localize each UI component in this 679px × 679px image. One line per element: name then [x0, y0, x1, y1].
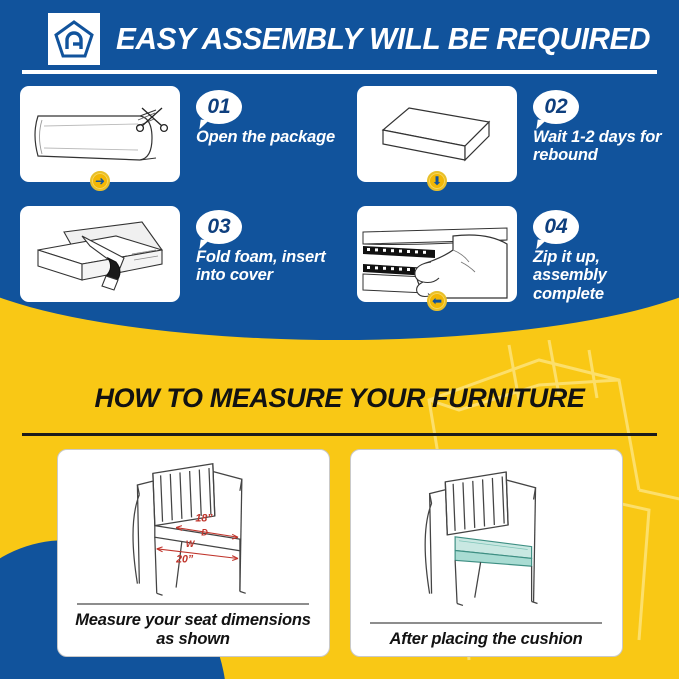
house-pentagon-icon: [48, 13, 100, 65]
assembly-steps-grid: ➜ 01 Open the package ⬇ 02 Wait 1-2 days…: [0, 86, 679, 312]
assembly-step-02: ⬇ 02 Wait 1-2 days for rebound: [343, 86, 674, 192]
step-number-badge: 01: [196, 90, 242, 124]
foam-slab-icon: ⬇: [357, 86, 517, 182]
step-number-badge: 02: [533, 90, 579, 124]
chair-with-cushion-icon: [359, 456, 614, 620]
card-caption: Measure your seat dimensions as shown: [66, 611, 321, 648]
width-value-label: 20”: [175, 553, 194, 565]
arrow-right-icon: ➜: [90, 171, 110, 191]
width-letter-label: W: [185, 539, 195, 549]
arrow-left-icon: ⬅: [427, 291, 447, 311]
chair-with-dimensions-icon: 18” D W 20”: [66, 456, 321, 601]
header: EASY ASSEMBLY WILL BE REQUIRED: [0, 0, 679, 78]
step-label: Open the package: [196, 128, 337, 146]
rolled-package-with-scissors-icon: ➜: [20, 86, 180, 182]
step-text-block: 02 Wait 1-2 days for rebound: [533, 86, 674, 165]
hand-zipping-cover-icon: ⬅: [357, 206, 517, 302]
step-number-badge: 04: [533, 210, 579, 244]
depth-value-label: 18”: [195, 513, 213, 525]
step-label: Wait 1-2 days for rebound: [533, 128, 674, 165]
step-number-badge: 03: [196, 210, 242, 244]
header-divider: [22, 70, 657, 74]
card-caption: After placing the cushion: [389, 630, 582, 648]
measure-card-cushion: After placing the cushion: [350, 449, 623, 657]
measure-card-dimensions: 18” D W 20” Measure your seat dimensions…: [57, 449, 330, 657]
folding-foam-into-cover-icon: [20, 206, 180, 302]
measure-cards: 18” D W 20” Measure your seat dimensions…: [0, 449, 679, 657]
arrow-down-icon: ⬇: [427, 171, 447, 191]
assembly-step-01: ➜ 01 Open the package: [6, 86, 337, 192]
step-text-block: 01 Open the package: [196, 86, 337, 146]
step-label: Zip it up, assembly complete: [533, 248, 674, 303]
assembly-step-03: 03 Fold foam, insert into cover: [6, 206, 337, 312]
measure-section-title: HOW TO MEASURE YOUR FURNITURE: [0, 383, 679, 414]
assembly-step-04: ⬅ 04 Zip it up, assembly complete: [343, 206, 674, 312]
step-label: Fold foam, insert into cover: [196, 248, 337, 285]
depth-letter-label: D: [201, 527, 208, 537]
card-divider: [370, 622, 602, 624]
step-text-block: 03 Fold foam, insert into cover: [196, 206, 337, 285]
infographic-page: EASY ASSEMBLY WILL BE REQUIRED: [0, 0, 679, 679]
measure-divider: [22, 433, 657, 436]
card-divider: [77, 603, 309, 605]
page-title: EASY ASSEMBLY WILL BE REQUIRED: [116, 21, 650, 57]
step-text-block: 04 Zip it up, assembly complete: [533, 206, 674, 303]
